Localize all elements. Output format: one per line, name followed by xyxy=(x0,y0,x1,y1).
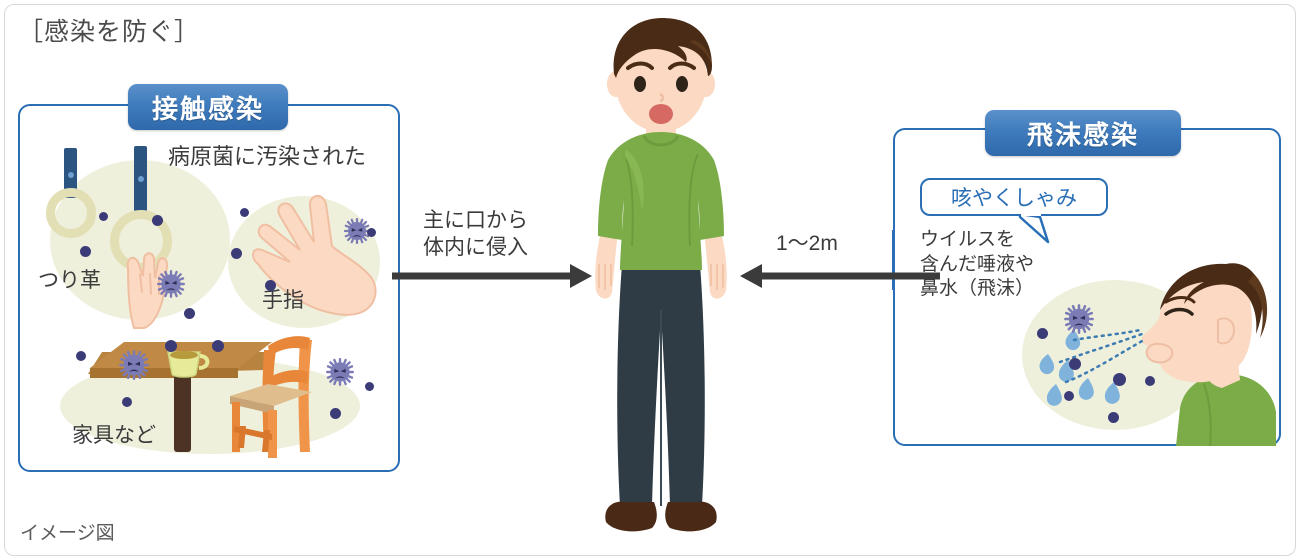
germ-dot xyxy=(212,340,224,352)
strap-bar-right xyxy=(134,146,147,216)
germ-dot xyxy=(1108,412,1119,423)
germ-dot xyxy=(231,248,242,259)
germ-dot xyxy=(1145,376,1155,386)
badge-droplet-infection: 飛沫感染 xyxy=(985,110,1181,156)
page-title: ［感染を防ぐ］ xyxy=(18,12,200,48)
speech-bubble-cough: 咳やくしゃみ xyxy=(920,178,1108,216)
virus-icon xyxy=(1062,302,1096,336)
germ-dot xyxy=(330,408,341,419)
germ-dot xyxy=(367,228,376,237)
germ-dot xyxy=(184,308,195,319)
table-leg xyxy=(174,376,191,452)
label-furniture: 家具など xyxy=(72,422,156,449)
standing-person-illustration xyxy=(566,14,756,542)
strap-ring-left xyxy=(46,188,96,238)
chair-icon xyxy=(228,334,354,462)
germ-dot xyxy=(265,280,276,291)
speech-bubble-label: 咳やくしゃみ xyxy=(951,182,1077,212)
virus-icon xyxy=(155,268,187,300)
germ-dot xyxy=(240,208,249,217)
label-fingers: 手指 xyxy=(262,287,304,314)
infographic-canvas: ［感染を防ぐ］ つり革 病原菌に汚染された 手指 xyxy=(0,0,1300,560)
germ-dot xyxy=(76,351,86,361)
arrow-right-icon xyxy=(392,258,592,294)
arrow-left-icon xyxy=(730,258,940,294)
germ-dot xyxy=(99,212,108,221)
germ-dot xyxy=(165,340,177,352)
germ-dot xyxy=(1069,358,1081,370)
label-strap: つり革 xyxy=(38,267,101,294)
speech-bubble-tail-icon xyxy=(1018,214,1064,244)
footer-note: イメージ図 xyxy=(20,518,115,545)
label-contaminated-heading: 病原菌に汚染された xyxy=(168,143,366,172)
germ-dot xyxy=(80,246,91,257)
germ-dot xyxy=(152,215,163,226)
virus-icon xyxy=(117,348,151,382)
label-entry-route: 主に口から 体内に侵入 xyxy=(423,207,528,262)
badge-contact-infection: 接触感染 xyxy=(128,84,288,130)
virus-icon xyxy=(324,356,356,388)
germ-dot xyxy=(1113,373,1126,386)
germ-dot xyxy=(1037,328,1048,339)
germ-dot xyxy=(1064,391,1074,401)
germ-dot xyxy=(122,397,132,407)
label-distance: 1〜2m xyxy=(776,230,838,257)
cough-droplets-icon xyxy=(1030,320,1180,440)
germ-dot xyxy=(365,382,374,391)
